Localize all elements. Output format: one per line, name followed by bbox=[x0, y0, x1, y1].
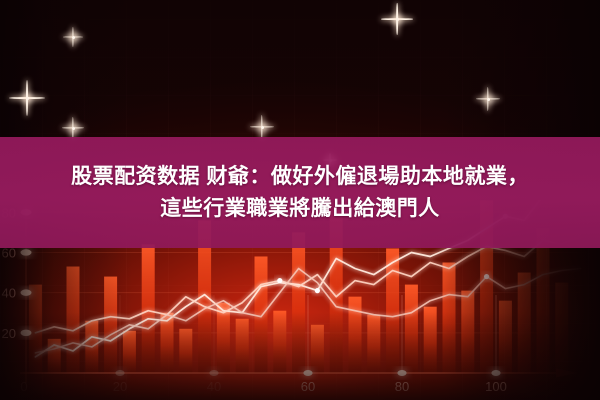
headline-line-2: 這些行業職業將騰出給澳門人 bbox=[160, 194, 440, 224]
headline-line-1: 股票配资数据 财爺：做好外僱退場助本地就業， bbox=[71, 162, 529, 192]
stock-news-banner: 20406080100204060801000 股票配资数据 财爺：做好外僱退場… bbox=[0, 0, 600, 400]
headline-block: 股票配资数据 财爺：做好外僱退場助本地就業， 這些行業職業將騰出給澳門人 bbox=[0, 137, 600, 248]
